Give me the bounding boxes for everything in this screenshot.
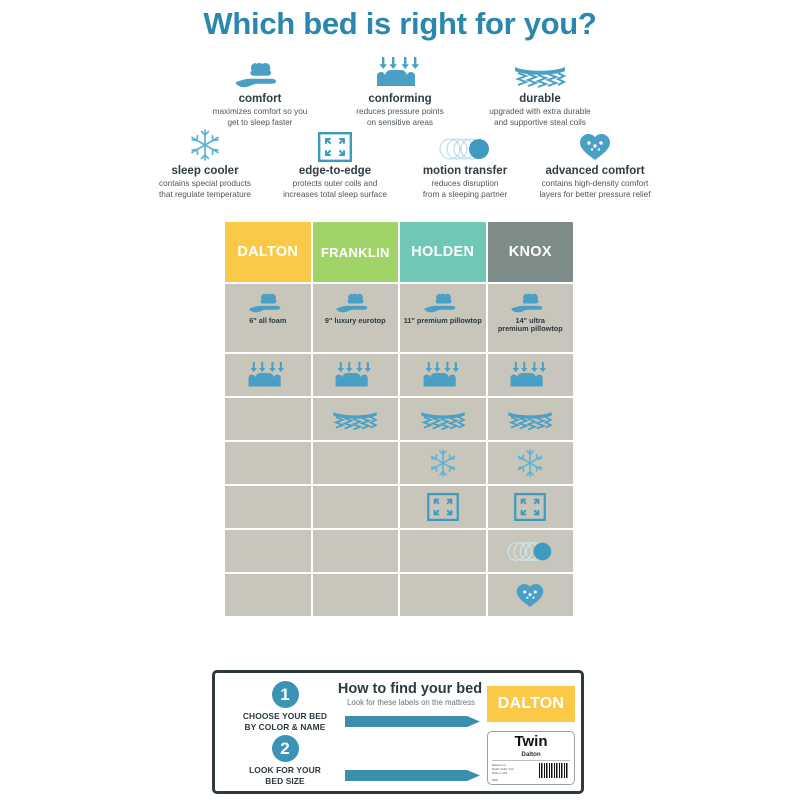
grid-row-comfort: 6" all foam9" luxury eurotop11" premium …: [225, 284, 573, 352]
feature-desc: protects outer coils and increases total…: [274, 179, 396, 200]
expand-arrows-icon: [274, 128, 396, 162]
feature-sleep-cooler: sleep cooler contains special products t…: [140, 128, 270, 201]
hand-comfort-icon: [335, 291, 375, 315]
grid-cell[interactable]: [313, 398, 399, 440]
expand-arrows-icon: [427, 493, 459, 521]
step-1: 1 CHOOSE YOUR BED BY COLOR & NAME: [225, 681, 345, 732]
feature-name: edge-to-edge: [274, 165, 396, 178]
grid-cell[interactable]: 6" all foam: [225, 284, 311, 352]
feature-name: advanced comfort: [534, 165, 656, 178]
grid-cell[interactable]: [488, 398, 574, 440]
grid-cell[interactable]: [313, 442, 399, 484]
feature-name: motion transfer: [404, 165, 526, 178]
grid-cell[interactable]: [488, 486, 574, 528]
grid-cell-label: 6" all foam: [247, 317, 288, 325]
column-header-dalton[interactable]: DALTON: [225, 222, 311, 282]
grid-cell[interactable]: [488, 354, 574, 396]
coils-icon: [331, 406, 379, 432]
barcode-icon: [539, 763, 569, 778]
feature-name: conforming: [334, 93, 466, 106]
grid-cell[interactable]: [225, 398, 311, 440]
grid-cell[interactable]: [400, 354, 486, 396]
grid-cell[interactable]: [488, 442, 574, 484]
hand-comfort-icon: [194, 56, 326, 90]
snowflake-icon: [144, 128, 266, 162]
column-header-knox[interactable]: KNOX: [488, 222, 574, 282]
pressure-arrows-icon: [508, 361, 552, 390]
feature-desc: contains high-density comfort layers for…: [534, 179, 656, 200]
grid-cell[interactable]: 14" ultrapremium pillowtop: [488, 284, 574, 352]
coils-icon: [474, 56, 606, 90]
feature-comfort: comfort maximizes comfort so you get to …: [190, 56, 330, 129]
grid-row-durable: [225, 398, 573, 440]
page-title: Which bed is right for you?: [0, 6, 800, 42]
how-to-find-panel: How to find your bed Look for these labe…: [212, 670, 584, 794]
feature-desc: contains special products that regulate …: [144, 179, 266, 200]
feature-conforming: conforming reduces pressure points on se…: [330, 56, 470, 129]
feature-row-primary: comfort maximizes comfort so you get to …: [190, 56, 610, 129]
grid-row-motion-transfer: [225, 530, 573, 572]
grid-cell[interactable]: [400, 486, 486, 528]
feature-row-secondary: sleep cooler contains special products t…: [140, 128, 660, 201]
feature-name: durable: [474, 93, 606, 106]
grid-cell[interactable]: [313, 354, 399, 396]
grid-cell[interactable]: [313, 486, 399, 528]
snowflake-icon: [428, 448, 458, 478]
grid-cell[interactable]: [400, 398, 486, 440]
comparison-grid: DALTON FRANKLIN HOLDEN KNOX 6" all foam9…: [225, 222, 573, 618]
mattress-law-label: Twin Dalton Mattress Co.Model: Dalton Tw…: [487, 731, 575, 785]
grid-cell[interactable]: 9" luxury eurotop: [313, 284, 399, 352]
motion-circles-icon: [507, 540, 553, 563]
grid-cell[interactable]: 11" premium pillowtop: [400, 284, 486, 352]
grid-cell[interactable]: [225, 574, 311, 616]
label-divider: [492, 760, 570, 761]
step-text: LOOK FOR YOUR BED SIZE: [225, 765, 345, 786]
label-under-print: 0000: [492, 779, 498, 782]
step-number-badge: 2: [272, 735, 299, 762]
panel-subheading: Look for these labels on the mattress: [327, 698, 495, 707]
grid-cell[interactable]: [313, 574, 399, 616]
arrow-right-icon-2: [345, 769, 480, 782]
grid-cell[interactable]: [313, 530, 399, 572]
grid-cell[interactable]: [225, 486, 311, 528]
feature-name: comfort: [194, 93, 326, 106]
column-header-label: FRANKLIN: [321, 245, 390, 260]
arrow-right-icon-1: [345, 715, 480, 728]
grid-cell[interactable]: [400, 530, 486, 572]
grid-cell[interactable]: [400, 442, 486, 484]
column-header-label: DALTON: [237, 244, 298, 260]
feature-desc: upgraded with extra durable and supporti…: [474, 107, 606, 128]
column-header-franklin[interactable]: FRANKLIN: [313, 222, 399, 282]
motion-circles-icon: [404, 128, 526, 162]
grid-cell-label: 14" ultrapremium pillowtop: [496, 317, 565, 334]
pressure-arrows-icon: [334, 56, 466, 90]
feature-durable: durable upgraded with extra durable and …: [470, 56, 610, 129]
infographic-page: Which bed is right for you? comfort maxi…: [0, 0, 800, 800]
column-header-holden[interactable]: HOLDEN: [400, 222, 486, 282]
grid-cell[interactable]: [225, 530, 311, 572]
heart-icon: [534, 128, 656, 162]
grid-cell[interactable]: [225, 354, 311, 396]
grid-body: 6" all foam9" luxury eurotop11" premium …: [225, 284, 573, 616]
grid-cell-label: 9" luxury eurotop: [323, 317, 388, 325]
step-text: CHOOSE YOUR BED BY COLOR & NAME: [225, 711, 345, 732]
snowflake-icon: [515, 448, 545, 478]
grid-cell-label: 11" premium pillowtop: [402, 317, 484, 325]
feature-desc: reduces pressure points on sensitive are…: [334, 107, 466, 128]
panel-heading: How to find your bed: [335, 681, 485, 697]
hand-comfort-icon: [248, 291, 288, 315]
grid-cell[interactable]: [488, 530, 574, 572]
brand-tag-label: DALTON: [498, 695, 564, 713]
hand-comfort-icon: [510, 291, 550, 315]
step-number-badge: 1: [272, 681, 299, 708]
coils-icon: [506, 406, 554, 432]
brand-tag-dalton: DALTON: [487, 686, 575, 722]
grid-cell[interactable]: [488, 574, 574, 616]
grid-row-conforming: [225, 354, 573, 396]
feature-desc: maximizes comfort so you get to sleep fa…: [194, 107, 326, 128]
label-fine-print: Mattress Co.Model: Dalton TwinMade in US…: [492, 764, 536, 776]
feature-motion-transfer: motion transfer reduces disruption from …: [400, 128, 530, 201]
pressure-arrows-icon: [246, 361, 290, 390]
grid-row-edge-to-edge: [225, 486, 573, 528]
coils-icon: [419, 406, 467, 432]
label-name: Dalton: [488, 751, 574, 758]
hand-comfort-icon: [423, 291, 463, 315]
grid-cell[interactable]: [225, 442, 311, 484]
column-header-label: KNOX: [509, 244, 552, 260]
pressure-arrows-icon: [421, 361, 465, 390]
feature-desc: reduces disruption from a sleeping partn…: [404, 179, 526, 200]
feature-edge-to-edge: edge-to-edge protects outer coils and in…: [270, 128, 400, 201]
label-size: Twin: [488, 734, 574, 749]
step-2: 2 LOOK FOR YOUR BED SIZE: [225, 735, 345, 786]
feature-advanced-comfort: advanced comfort contains high-density c…: [530, 128, 660, 201]
grid-cell[interactable]: [400, 574, 486, 616]
grid-row-advanced-comfort: [225, 574, 573, 616]
grid-header-row: DALTON FRANKLIN HOLDEN KNOX: [225, 222, 573, 282]
column-header-label: HOLDEN: [411, 244, 474, 260]
feature-name: sleep cooler: [144, 165, 266, 178]
expand-arrows-icon: [514, 493, 546, 521]
grid-row-sleep-cooler: [225, 442, 573, 484]
heart-icon: [515, 582, 545, 609]
pressure-arrows-icon: [333, 361, 377, 390]
